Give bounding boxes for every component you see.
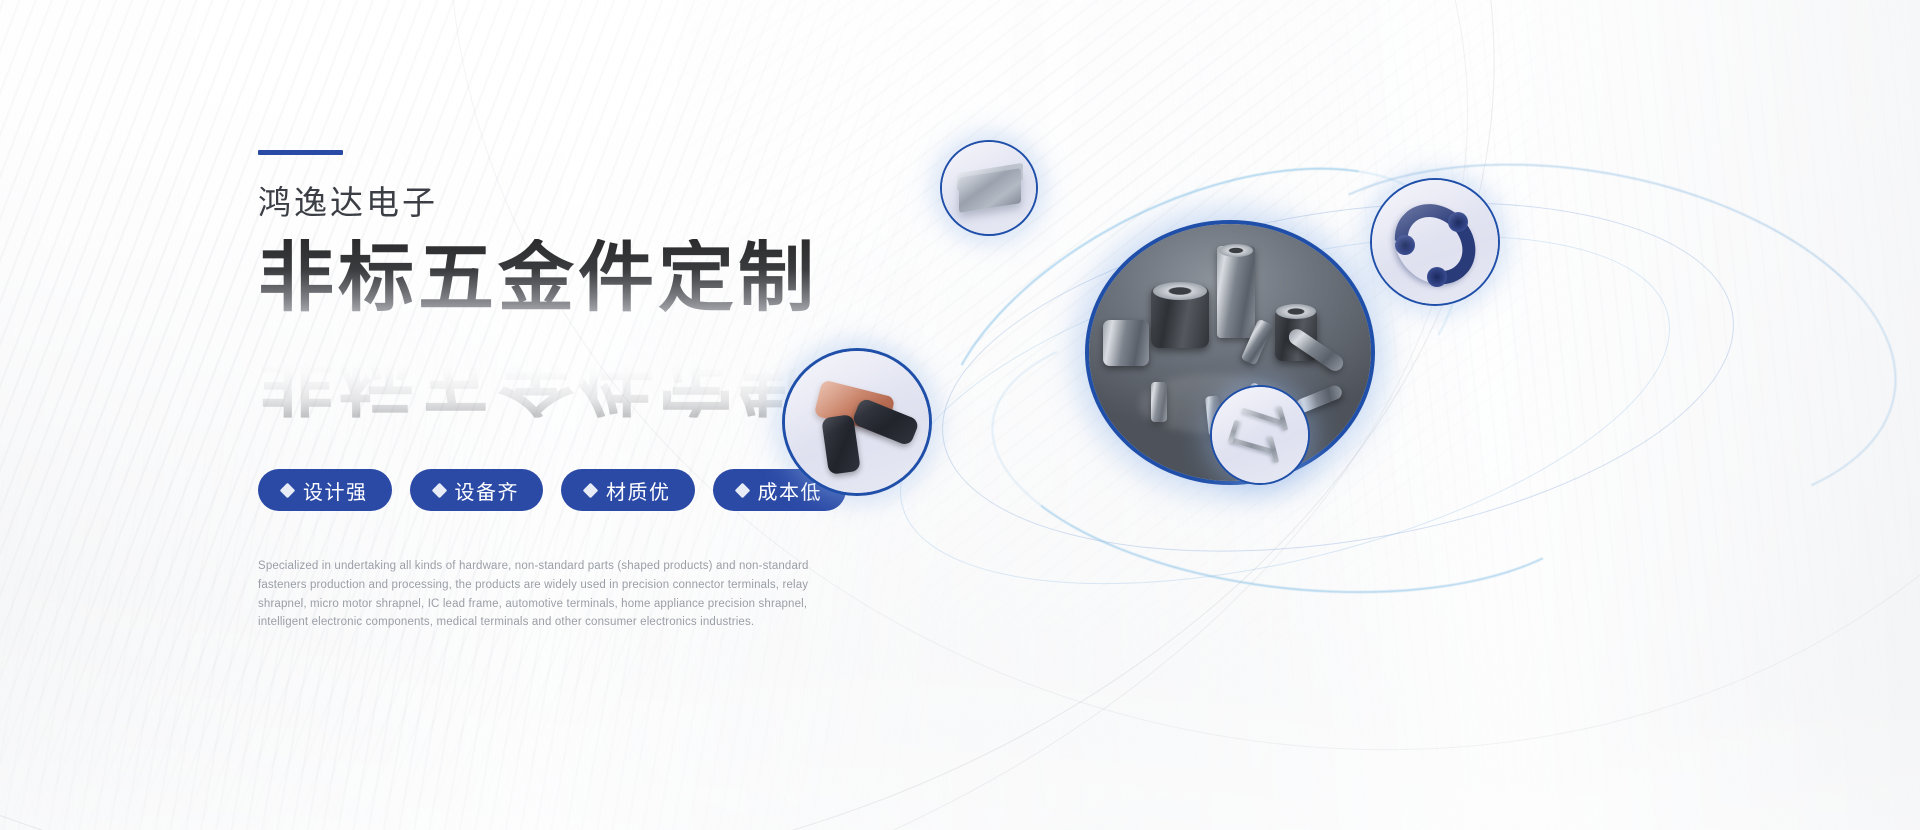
company-description: Specialized in undertaking all kinds of …: [258, 557, 833, 632]
feature-tag-label: 材质优: [606, 476, 671, 505]
feature-tag-design[interactable]: 设计强: [258, 469, 392, 511]
accent-bar: [258, 150, 343, 155]
brand-name: 鸿逸达电子: [258, 185, 898, 221]
retaining-ring-photo[interactable]: [1370, 178, 1500, 306]
feature-tag-material[interactable]: 材质优: [561, 469, 695, 511]
diamond-icon: [583, 483, 599, 499]
metal-enclosure-photo[interactable]: [940, 140, 1038, 236]
feature-tag-equipment[interactable]: 设备齐: [410, 469, 544, 511]
bent-terminal-pins-image: [1212, 387, 1308, 483]
headline-reflection: 非标五金件定制: [258, 338, 818, 418]
product-visual-group: [930, 140, 1890, 660]
diamond-icon: [734, 483, 750, 499]
feature-tag-label: 设备齐: [455, 476, 520, 505]
page-title: 非标五金件定制: [258, 239, 898, 319]
alligator-clamp-photo[interactable]: [782, 348, 932, 496]
hero-banner: 鸿逸达电子 非标五金件定制 非标五金件定制 设计强 设备齐 材质优 成本低: [0, 0, 1920, 830]
diamond-icon: [280, 483, 296, 499]
feature-tag-label: 设计强: [303, 476, 368, 505]
bent-terminal-pins-photo[interactable]: [1210, 385, 1310, 485]
diamond-icon: [431, 483, 447, 499]
headline-wrapper: 非标五金件定制 非标五金件定制: [258, 239, 898, 361]
ring-lug: [1448, 212, 1468, 232]
ring-lug: [1395, 235, 1415, 255]
